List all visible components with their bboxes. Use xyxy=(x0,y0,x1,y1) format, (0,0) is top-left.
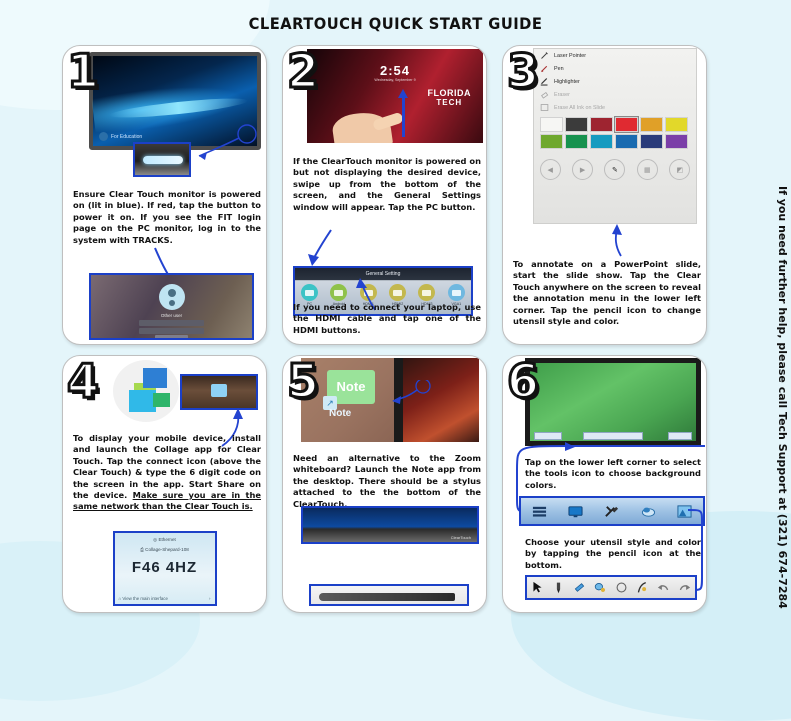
stylus-image xyxy=(309,584,469,606)
pencil-icon[interactable]: ✎ xyxy=(604,159,625,180)
step-number-1: 1 xyxy=(67,48,99,94)
cleartouch-brand-label: ClearTouch xyxy=(451,535,471,540)
login-password-field xyxy=(139,328,203,334)
redo-icon[interactable] xyxy=(676,579,693,596)
step-6-instructions: Tap on the lower left corner to select t… xyxy=(525,457,701,491)
highlighter-icon xyxy=(540,77,549,86)
color-swatch-olive[interactable] xyxy=(540,134,563,149)
android-icon xyxy=(330,284,347,301)
collage-code-value: F46 4HZ xyxy=(115,559,215,576)
pc-icon xyxy=(301,284,318,301)
step-number-6: 6 xyxy=(507,358,539,404)
step-number-4: 4 xyxy=(67,358,99,404)
tech-support-note: If you need further help, please call Te… xyxy=(775,186,789,609)
callout-line-power xyxy=(183,124,259,170)
screen-icon[interactable] xyxy=(567,503,584,520)
cursor-icon[interactable] xyxy=(529,579,546,596)
eraser-icon[interactable] xyxy=(592,579,609,596)
connect-icon-photo xyxy=(180,374,258,410)
connect-icon xyxy=(211,384,227,397)
whiteboard-pen-toolbar xyxy=(525,575,697,600)
palette-row-1 xyxy=(540,117,690,132)
color-swatch-yellow[interactable] xyxy=(665,117,688,132)
laser-pointer-icon xyxy=(540,51,549,60)
login-caption: Other user xyxy=(91,313,252,318)
code-footer: ⌂ View the main interface › xyxy=(119,596,211,601)
panel-step-2: 2 2:54 Wednesday, September 9 FLORIDA TE… xyxy=(282,45,487,345)
chevron-right-icon[interactable]: › xyxy=(209,596,210,601)
hdmi2-icon xyxy=(389,284,406,301)
menu-item-laser-pointer[interactable]: Laser Pointer xyxy=(534,49,696,62)
slideshow-control-bar: ◀ ▶ ✎ ▦ ◩ xyxy=(534,153,696,180)
panel-step-4: 4 To display your mobile device, install… xyxy=(62,355,267,613)
whiteboard-toolbar-center[interactable] xyxy=(583,432,643,440)
menu-item-erase-all-ink[interactable]: Erase All Ink on Slide xyxy=(534,101,696,114)
panel-grid: 1 For Education Ensure Clear Touch monit… xyxy=(62,45,732,605)
panel-step-5: 5 Note ↗ Note Need an alternative to the… xyxy=(282,355,487,613)
cloud-icon[interactable] xyxy=(640,503,657,520)
color-swatch-darkgray[interactable] xyxy=(565,117,588,132)
page-title: CLEARTOUCH QUICK START GUIDE xyxy=(32,14,760,33)
panel-step-3: 3 Laser Pointer Pen Highlighter xyxy=(502,45,707,345)
code-footer-label[interactable]: ⌂ View the main interface xyxy=(119,596,168,601)
logo-square-cyan xyxy=(129,390,156,412)
menu-item-pen[interactable]: Pen xyxy=(534,62,696,75)
cleartouch-board-bottom-image: ClearTouch xyxy=(301,506,479,544)
login-username-field xyxy=(139,320,203,326)
powerpoint-annotation-menu-image: Laser Pointer Pen Highlighter Eraser xyxy=(533,48,697,224)
monitor-caption: For Education xyxy=(99,132,142,141)
whiteboard-toolbar-right[interactable] xyxy=(668,432,692,440)
undo-icon[interactable] xyxy=(655,579,672,596)
pen-icon xyxy=(540,64,549,73)
collage-app-logo xyxy=(113,360,179,422)
color-swatch-blue[interactable] xyxy=(615,134,638,149)
step-4-instructions: To display your mobile device, install a… xyxy=(73,433,261,513)
pen-icon[interactable] xyxy=(550,579,567,596)
slide-grid-icon[interactable]: ▦ xyxy=(637,159,658,180)
color-swatch-darkred[interactable] xyxy=(590,117,613,132)
note-app-desktop-image: Note ↗ Note xyxy=(301,358,479,442)
color-swatch-cyan[interactable] xyxy=(590,134,613,149)
education-logo-icon xyxy=(99,132,108,141)
shape-icon[interactable] xyxy=(613,579,630,596)
vga1-icon xyxy=(448,284,465,301)
step-2-instructions-hdmi: If you need to connect your laptop, use … xyxy=(293,302,481,336)
user-avatar-icon xyxy=(159,284,185,310)
note-app-label: Note xyxy=(329,408,351,419)
collage-code-screen-image: ◎ Ethernet ⎙ Collage-Shepard-108 F46 4HZ… xyxy=(113,531,217,606)
more-options-icon[interactable]: ◩ xyxy=(669,159,690,180)
whiteboard-toolbar-left[interactable] xyxy=(534,432,562,440)
step-1-instructions: Ensure Clear Touch monitor is powered on… xyxy=(73,189,261,246)
color-swatch-amber[interactable] xyxy=(640,117,663,132)
florida-tech-logo: FLORIDA TECH xyxy=(428,89,472,107)
menu-icon[interactable] xyxy=(531,503,548,520)
arrow-to-pencil-icon xyxy=(603,222,639,258)
menu-item-highlighter[interactable]: Highlighter xyxy=(534,75,696,88)
erase-all-icon xyxy=(540,103,549,112)
step-2-instructions: If the ClearTouch monitor is powered on … xyxy=(293,156,481,213)
step-5-instructions: Need an alternative to the Zoom whiteboa… xyxy=(293,453,481,510)
callout-line-note xyxy=(387,380,433,408)
hdmi3-icon xyxy=(418,284,435,301)
code-device-label: ⎙ Collage-Shepard-108 xyxy=(115,547,215,552)
color-swatch-purple[interactable] xyxy=(665,134,688,149)
power-indicator-light xyxy=(143,156,183,164)
color-swatch-red[interactable] xyxy=(615,117,638,132)
step-number-3: 3 xyxy=(507,48,539,94)
swipe-up-arrow xyxy=(402,97,405,137)
step-number-2: 2 xyxy=(287,48,319,94)
annotation-color-palette xyxy=(534,114,696,153)
tools-icon[interactable] xyxy=(603,503,620,520)
menu-item-eraser[interactable]: Eraser xyxy=(534,88,696,101)
highlighter-icon[interactable] xyxy=(571,579,588,596)
color-swatch-white[interactable] xyxy=(540,117,563,132)
next-slide-icon[interactable]: ▶ xyxy=(572,159,593,180)
eraser-icon xyxy=(540,90,549,99)
step-number-5: 5 xyxy=(287,358,319,404)
color-swatch-navy[interactable] xyxy=(640,134,663,149)
green-whiteboard-image xyxy=(525,358,701,446)
florida-tech-screen-image: 2:54 Wednesday, September 9 FLORIDA TECH xyxy=(307,49,483,143)
logo-square-teal xyxy=(153,393,170,407)
fit-login-screen-image: Other user xyxy=(89,273,254,340)
login-submit-button xyxy=(155,335,187,340)
logo-square-blue xyxy=(143,368,167,388)
step-3-instructions: To annotate on a PowerPoint slide, start… xyxy=(513,259,701,327)
prev-slide-icon[interactable]: ◀ xyxy=(540,159,561,180)
magic-pen-icon[interactable] xyxy=(634,579,651,596)
panel-step-1: 1 For Education Ensure Clear Touch monit… xyxy=(62,45,267,345)
screen-clock: 2:54 xyxy=(307,63,483,78)
stylus-body xyxy=(319,593,455,601)
color-swatch-green[interactable] xyxy=(565,134,588,149)
panel-step-6: 6 Tap on the lower left corner to select… xyxy=(502,355,707,613)
screen-date: Wednesday, September 9 xyxy=(307,78,483,82)
palette-row-2 xyxy=(540,134,690,149)
code-network-label: ◎ Ethernet xyxy=(115,537,215,543)
